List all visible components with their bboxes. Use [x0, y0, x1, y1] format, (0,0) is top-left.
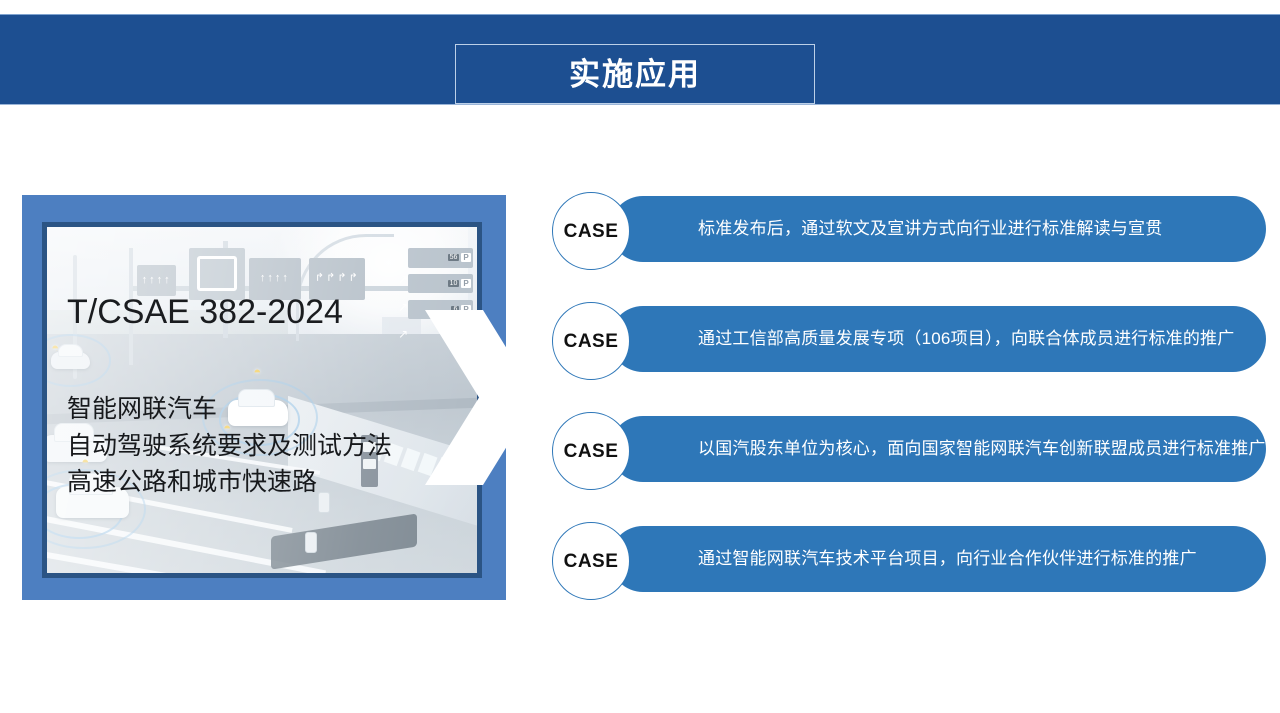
- case-item[interactable]: 标准发布后，通过软文及宣讲方式向行业进行标准解读与宣贯 CASE: [552, 192, 1266, 268]
- case-badge-label: CASE: [564, 222, 619, 241]
- case-item[interactable]: 通过智能网联汽车技术平台项目，向行业合作伙伴进行标准的推广 CASE: [552, 522, 1266, 598]
- case-text: 以国汽股东单位为核心，面向国家智能网联汽车创新联盟成员进行标准推广: [610, 439, 1266, 459]
- case-text: 通过智能网联汽车技术平台项目，向行业合作伙伴进行标准的推广: [610, 549, 1197, 569]
- case-text: 通过工信部高质量发展专项（106项目），向联合体成员进行标准的推广: [610, 329, 1234, 349]
- case-pill[interactable]: 通过智能网联汽车技术平台项目，向行业合作伙伴进行标准的推广: [610, 526, 1266, 592]
- case-list: 标准发布后，通过软文及宣讲方式向行业进行标准解读与宣贯 CASE 通过工信部高质…: [0, 0, 1280, 713]
- case-pill[interactable]: 通过工信部高质量发展专项（106项目），向联合体成员进行标准的推广: [610, 306, 1266, 372]
- case-pill[interactable]: 标准发布后，通过软文及宣讲方式向行业进行标准解读与宣贯: [610, 196, 1266, 262]
- case-badge: CASE: [552, 192, 630, 270]
- case-badge-label: CASE: [564, 552, 619, 571]
- case-badge: CASE: [552, 302, 630, 380]
- case-badge: CASE: [552, 522, 630, 600]
- case-badge-label: CASE: [564, 442, 619, 461]
- case-badge-label: CASE: [564, 332, 619, 351]
- case-item[interactable]: 以国汽股东单位为核心，面向国家智能网联汽车创新联盟成员进行标准推广 CASE: [552, 412, 1266, 488]
- case-pill[interactable]: 以国汽股东单位为核心，面向国家智能网联汽车创新联盟成员进行标准推广: [610, 416, 1266, 482]
- case-badge: CASE: [552, 412, 630, 490]
- case-item[interactable]: 通过工信部高质量发展专项（106项目），向联合体成员进行标准的推广 CASE: [552, 302, 1266, 378]
- case-text: 标准发布后，通过软文及宣讲方式向行业进行标准解读与宣贯: [610, 219, 1162, 239]
